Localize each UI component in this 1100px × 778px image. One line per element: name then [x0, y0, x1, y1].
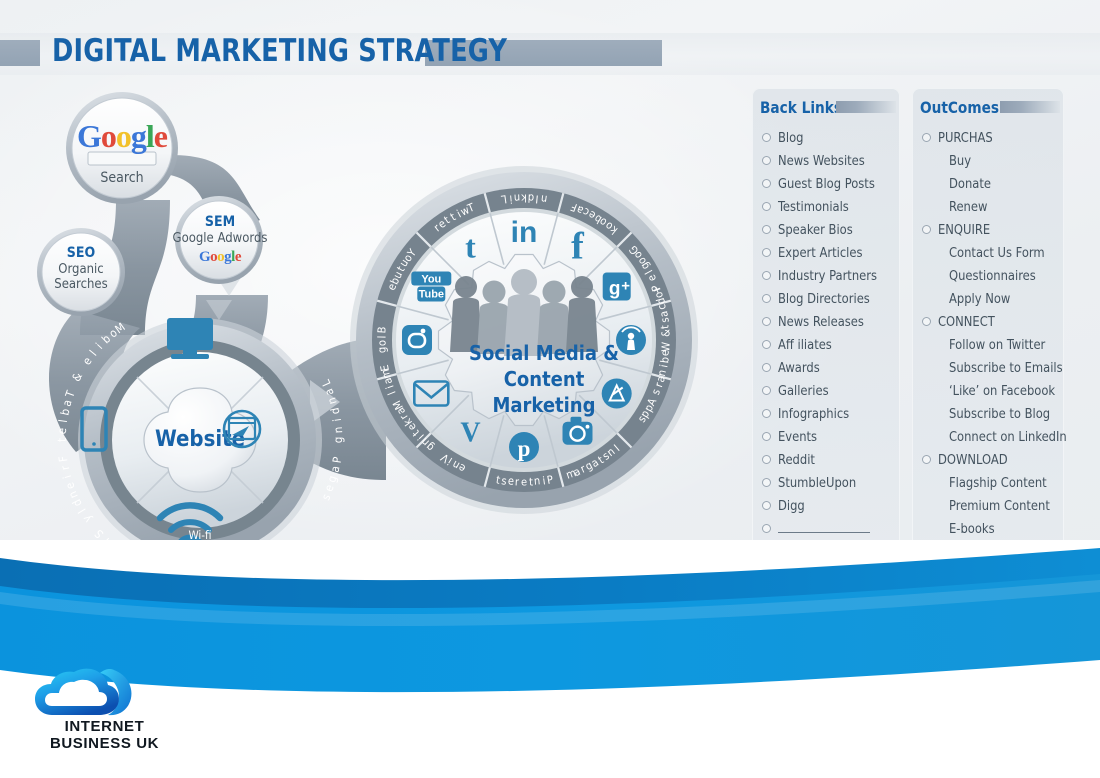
website-segment-label-char: n	[330, 426, 344, 434]
outcomes-item[interactable]: Subscribe to Blog	[922, 402, 1056, 425]
back-links-item[interactable]	[762, 517, 896, 540]
radio-icon[interactable]	[762, 363, 771, 372]
outcomes-label: Buy	[949, 153, 971, 169]
back-links-label: Blog	[778, 130, 804, 146]
outcomes-item[interactable]: Questionnaires	[922, 264, 1056, 287]
radio-icon[interactable]	[762, 294, 771, 303]
outcomes-item[interactable]: Connect on LinkedIn	[922, 425, 1056, 448]
outcomes-label: Connect on LinkedIn	[949, 429, 1067, 445]
title-bar-left-decoration	[0, 40, 40, 66]
outcomes-item[interactable]: Subscribe to Emails	[922, 356, 1056, 379]
back-links-label: Expert Articles	[778, 245, 862, 261]
back-links-heading-bar	[836, 101, 896, 113]
website-segment-label-char: t	[55, 438, 69, 442]
google-letter-5: e	[154, 118, 167, 154]
social-center-line-1: Social Media &	[444, 340, 644, 366]
back-links-label: Blog Directories	[778, 291, 870, 307]
radio-icon[interactable]	[762, 455, 771, 464]
back-links-label: Digg	[778, 498, 805, 514]
outcomes-item[interactable]: ‘Like’ on Facebook	[922, 379, 1056, 402]
outcomes-label: PURCHAS	[938, 130, 993, 146]
radio-icon[interactable]	[762, 386, 771, 395]
outcomes-heading-bar	[1000, 101, 1060, 113]
outcomes-list: PURCHASBuyDonateRenewENQUIREContact Us F…	[922, 126, 1056, 563]
back-links-label: Reddit	[778, 452, 815, 468]
outcomes-item[interactable]: ENQUIRE	[922, 218, 1056, 241]
back-links-item[interactable]: Testimonials	[762, 195, 896, 218]
outcomes-label: E-books	[949, 521, 995, 537]
back-links-label: StumbleUpon	[778, 475, 856, 491]
outcomes-item[interactable]: Follow on Twitter	[922, 333, 1056, 356]
outcomes-label: Subscribe to Blog	[949, 406, 1050, 422]
outcomes-label: Donate	[949, 176, 991, 192]
outcomes-label: Renew	[949, 199, 987, 215]
radio-icon[interactable]	[762, 133, 771, 142]
back-links-label: News Websites	[778, 153, 865, 169]
social-center-text: Social Media & Content Marketing	[444, 340, 644, 418]
twitter-icon[interactable]: t	[465, 228, 476, 264]
google-letter-1: o	[101, 118, 116, 154]
back-links-item[interactable]: Expert Articles	[762, 241, 896, 264]
svg-text:g: g	[609, 279, 621, 300]
outcomes-label: Flagship Content	[949, 475, 1047, 491]
outcomes-item[interactable]: Renew	[922, 195, 1056, 218]
svg-text:in: in	[511, 216, 538, 249]
outcomes-label: Subscribe to Emails	[949, 360, 1063, 376]
company-logo: INTERNET BUSINESS UK	[22, 658, 192, 763]
radio-icon[interactable]	[922, 225, 931, 234]
back-links-item[interactable]: Infographics	[762, 402, 896, 425]
back-links-item[interactable]: Awards	[762, 356, 896, 379]
back-links-item[interactable]: Blog Directories	[762, 287, 896, 310]
svg-text:p: p	[518, 436, 531, 461]
back-links-item[interactable]: Reddit	[762, 448, 896, 471]
radio-icon[interactable]	[762, 501, 771, 510]
back-links-item[interactable]: Guest Blog Posts	[762, 172, 896, 195]
back-links-label: Industry Partners	[778, 268, 877, 284]
pinterest-icon[interactable]: p	[509, 432, 539, 462]
outcomes-label: Apply Now	[949, 291, 1010, 307]
radio-icon[interactable]	[762, 202, 771, 211]
back-links-label: Testimonials	[778, 199, 849, 215]
google-letter-3: g	[131, 118, 146, 154]
vine-icon[interactable]: V	[460, 418, 480, 449]
infographic-canvas: DIGITAL MARKETING STRATEGY	[0, 0, 1100, 778]
outcomes-label: CONNECT	[938, 314, 995, 330]
back-links-label: Aff iliates	[778, 337, 832, 353]
svg-text:Tube: Tube	[419, 289, 444, 301]
logo-line-1: INTERNET	[22, 718, 187, 735]
back-links-item[interactable]: Digg	[762, 494, 896, 517]
radio-icon[interactable]	[922, 455, 931, 464]
back-links-item[interactable]: Industry Partners	[762, 264, 896, 287]
facebook-icon[interactable]: f	[571, 225, 585, 267]
back-links-item[interactable]: StumbleUpon	[762, 471, 896, 494]
back-links-heading: Back Links	[760, 98, 842, 117]
svg-text:t: t	[465, 228, 476, 264]
outcomes-label: DOWNLOAD	[938, 452, 1008, 468]
google-logo: Google	[69, 118, 175, 155]
blogger-icon[interactable]	[402, 325, 432, 355]
social-center-line-2: Content	[444, 366, 644, 392]
seo-heading: SEO	[41, 245, 121, 261]
outcomes-item[interactable]: Buy	[922, 149, 1056, 172]
radio-icon[interactable]	[762, 524, 771, 533]
google-letter-5: e	[235, 249, 241, 265]
svg-text:V: V	[460, 418, 480, 449]
svg-text:+: +	[621, 278, 630, 295]
outcomes-item[interactable]: Premium Content	[922, 494, 1056, 517]
radio-icon[interactable]	[762, 317, 771, 326]
outcomes-heading: OutComes	[920, 98, 999, 117]
back-links-item[interactable]: Blog	[762, 126, 896, 149]
back-links-list: BlogNews WebsitesGuest Blog PostsTestimo…	[762, 126, 896, 563]
logo-text: INTERNET BUSINESS UK	[22, 718, 187, 752]
google-search-label: Search	[72, 170, 172, 186]
outcomes-label: Premium Content	[949, 498, 1050, 514]
back-links-label: Awards	[778, 360, 820, 376]
outcomes-item[interactable]: Contact Us Form	[922, 241, 1056, 264]
radio-icon[interactable]	[762, 156, 771, 165]
outcomes-item[interactable]: Donate	[922, 172, 1056, 195]
page-title: DIGITAL MARKETING STRATEGY	[52, 33, 507, 69]
outcomes-label: Contact Us Form	[949, 245, 1045, 261]
outcomes-label: Questionnaires	[949, 268, 1036, 284]
desktop-monitor-icon	[167, 318, 213, 359]
radio-icon[interactable]	[762, 271, 771, 280]
outcomes-item[interactable]: DOWNLOAD	[922, 448, 1056, 471]
radio-icon[interactable]	[922, 133, 931, 142]
google-letter-4: l	[146, 118, 154, 154]
website-segment-label-char: P	[329, 455, 344, 463]
outcomes-label: Follow on Twitter	[949, 337, 1045, 353]
radio-icon[interactable]	[762, 225, 771, 234]
radio-icon[interactable]	[762, 409, 771, 418]
back-links-label: News Releases	[778, 314, 864, 330]
radio-icon[interactable]	[762, 478, 771, 487]
radio-icon[interactable]	[922, 317, 931, 326]
outcomes-label: ‘Like’ on Facebook	[949, 383, 1055, 399]
radio-icon[interactable]	[762, 340, 771, 349]
google-letter-0: G	[199, 249, 210, 265]
back-links-item[interactable]: Speaker Bios	[762, 218, 896, 241]
back-links-label: Galleries	[778, 383, 829, 399]
smartphone-icon	[82, 408, 106, 450]
website-segment-label-char: g	[331, 437, 345, 444]
back-links-label: Guest Blog Posts	[778, 176, 875, 192]
radio-icon[interactable]	[762, 432, 771, 441]
blank-write-in-line[interactable]	[778, 524, 870, 533]
radio-icon[interactable]	[762, 179, 771, 188]
back-links-item[interactable]: News Releases	[762, 310, 896, 333]
outcomes-item[interactable]: Flagship Content	[922, 471, 1056, 494]
linkedin-icon[interactable]: in	[511, 216, 538, 249]
back-links-item[interactable]: News Websites	[762, 149, 896, 172]
back-links-label: Infographics	[778, 406, 849, 422]
logo-line-2: BUSINESS UK	[22, 735, 187, 752]
back-links-label: Speaker Bios	[778, 222, 853, 238]
seo-line-1: Organic	[41, 262, 121, 277]
back-links-item[interactable]: Events	[762, 425, 896, 448]
browser-window-icon	[224, 411, 260, 447]
google-letter-2: o	[116, 118, 131, 154]
googleplus-icon[interactable]: g+	[603, 273, 631, 301]
back-links-item[interactable]: Galleries	[762, 379, 896, 402]
back-links-label: Events	[778, 429, 817, 445]
outcomes-label: ENQUIRE	[938, 222, 990, 238]
website-segment-label-char: e	[55, 427, 69, 434]
outcomes-item[interactable]: E-books	[922, 517, 1056, 540]
svg-text:f: f	[571, 225, 585, 267]
back-links-panel: Back Links BlogNews WebsitesGuest Blog P…	[752, 88, 900, 556]
outcomes-panel: OutComes PURCHASBuyDonateRenewENQUIRECon…	[912, 88, 1064, 574]
social-center-line-3: Marketing	[444, 392, 644, 418]
outcomes-item[interactable]: CONNECT	[922, 310, 1056, 333]
sem-line-1: Google Adwords	[169, 231, 271, 246]
google-letter-0: G	[77, 118, 101, 154]
svg-text:You: You	[421, 274, 441, 286]
back-links-item[interactable]: Aff iliates	[762, 333, 896, 356]
outcomes-item[interactable]: Apply Now	[922, 287, 1056, 310]
sem-google-logo: Google	[169, 248, 271, 266]
outcomes-item[interactable]: PURCHAS	[922, 126, 1056, 149]
sem-heading: SEM	[179, 214, 261, 230]
radio-icon[interactable]	[762, 248, 771, 257]
